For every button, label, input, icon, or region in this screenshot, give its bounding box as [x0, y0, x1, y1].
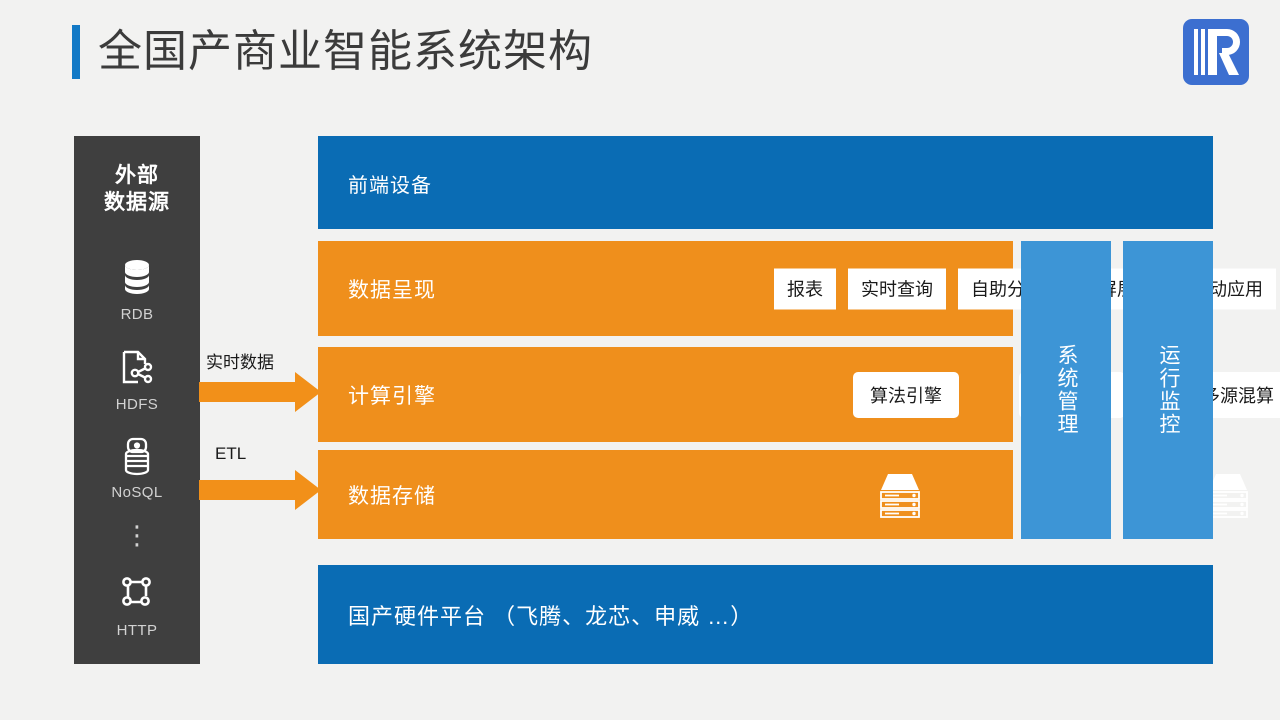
sidebar-title: 外部 数据源 [74, 136, 200, 216]
panel-system-management[interactable]: 系统管理 [1021, 241, 1111, 539]
company-logo [1181, 17, 1251, 87]
sidebar-title-line2: 数据源 [74, 189, 200, 216]
sidebar-item-http[interactable]: HTTP [74, 574, 200, 640]
page-title: 全国产商业智能系统架构 [98, 22, 593, 82]
sidebar-item-label: RDB [121, 306, 154, 323]
sidebar-item-label: HTTP [117, 622, 158, 639]
vertical-ellipsis-icon: ⋮ [124, 520, 150, 550]
band-title: 数据存储 [348, 480, 436, 510]
chip-algorithm-engine[interactable]: 算法引擎 [853, 372, 959, 418]
sidebar-item-more[interactable]: ⋮ [74, 528, 200, 549]
chip-report[interactable]: 报表 [774, 268, 836, 309]
sidebar-item-label: HDFS [116, 396, 158, 413]
flow-label-realtime: 实时数据 [206, 348, 274, 373]
flow-arrow-etl [199, 470, 321, 510]
network-nodes-icon [74, 574, 200, 616]
band-frontend-devices: 前端设备 [318, 136, 1213, 229]
sidebar-item-nosql[interactable]: NoSQL [74, 436, 200, 502]
external-data-sources-panel: 外部 数据源 RDB [74, 136, 200, 664]
sidebar-item-rdb[interactable]: RDB [74, 258, 200, 324]
panel-label: 运行监控 [1153, 344, 1183, 436]
band-compute-engine: 计算引擎 算法引擎 实时计算 多源混算 [318, 347, 1013, 442]
file-share-nodes-icon [74, 348, 200, 390]
band-title: 前端设备 [348, 169, 432, 198]
title-accent-bar [72, 25, 80, 79]
panel-label: 系统管理 [1051, 344, 1081, 436]
database-cylinder-icon [74, 258, 200, 300]
sidebar-title-line1: 外部 [74, 162, 200, 189]
band-title: 国产硬件平台 （飞腾、龙芯、申威 …） [348, 599, 753, 631]
flow-label-etl: ETL [215, 444, 246, 464]
band-title: 计算引擎 [348, 380, 436, 410]
chip-realtime-query[interactable]: 实时查询 [848, 268, 946, 309]
band-data-storage: 数据存储 [318, 450, 1013, 539]
band-domestic-hardware-platform: 国产硬件平台 （飞腾、龙芯、申威 …） [318, 565, 1213, 664]
sidebar-item-label: NoSQL [111, 484, 162, 501]
page-header: 全国产商业智能系统架构 [0, 0, 1280, 110]
panel-operation-monitoring[interactable]: 运行监控 [1123, 241, 1213, 539]
nosql-disk-stack-icon [74, 436, 200, 478]
band-title: 数据呈现 [348, 274, 436, 304]
band-data-presentation: 数据呈现 报表 实时查询 自助分析 大屏展现 移动应用 [318, 241, 1013, 336]
sidebar-item-hdfs[interactable]: HDFS [74, 348, 200, 414]
flow-arrow-realtime [199, 372, 321, 412]
server-rack-icon [874, 471, 926, 519]
